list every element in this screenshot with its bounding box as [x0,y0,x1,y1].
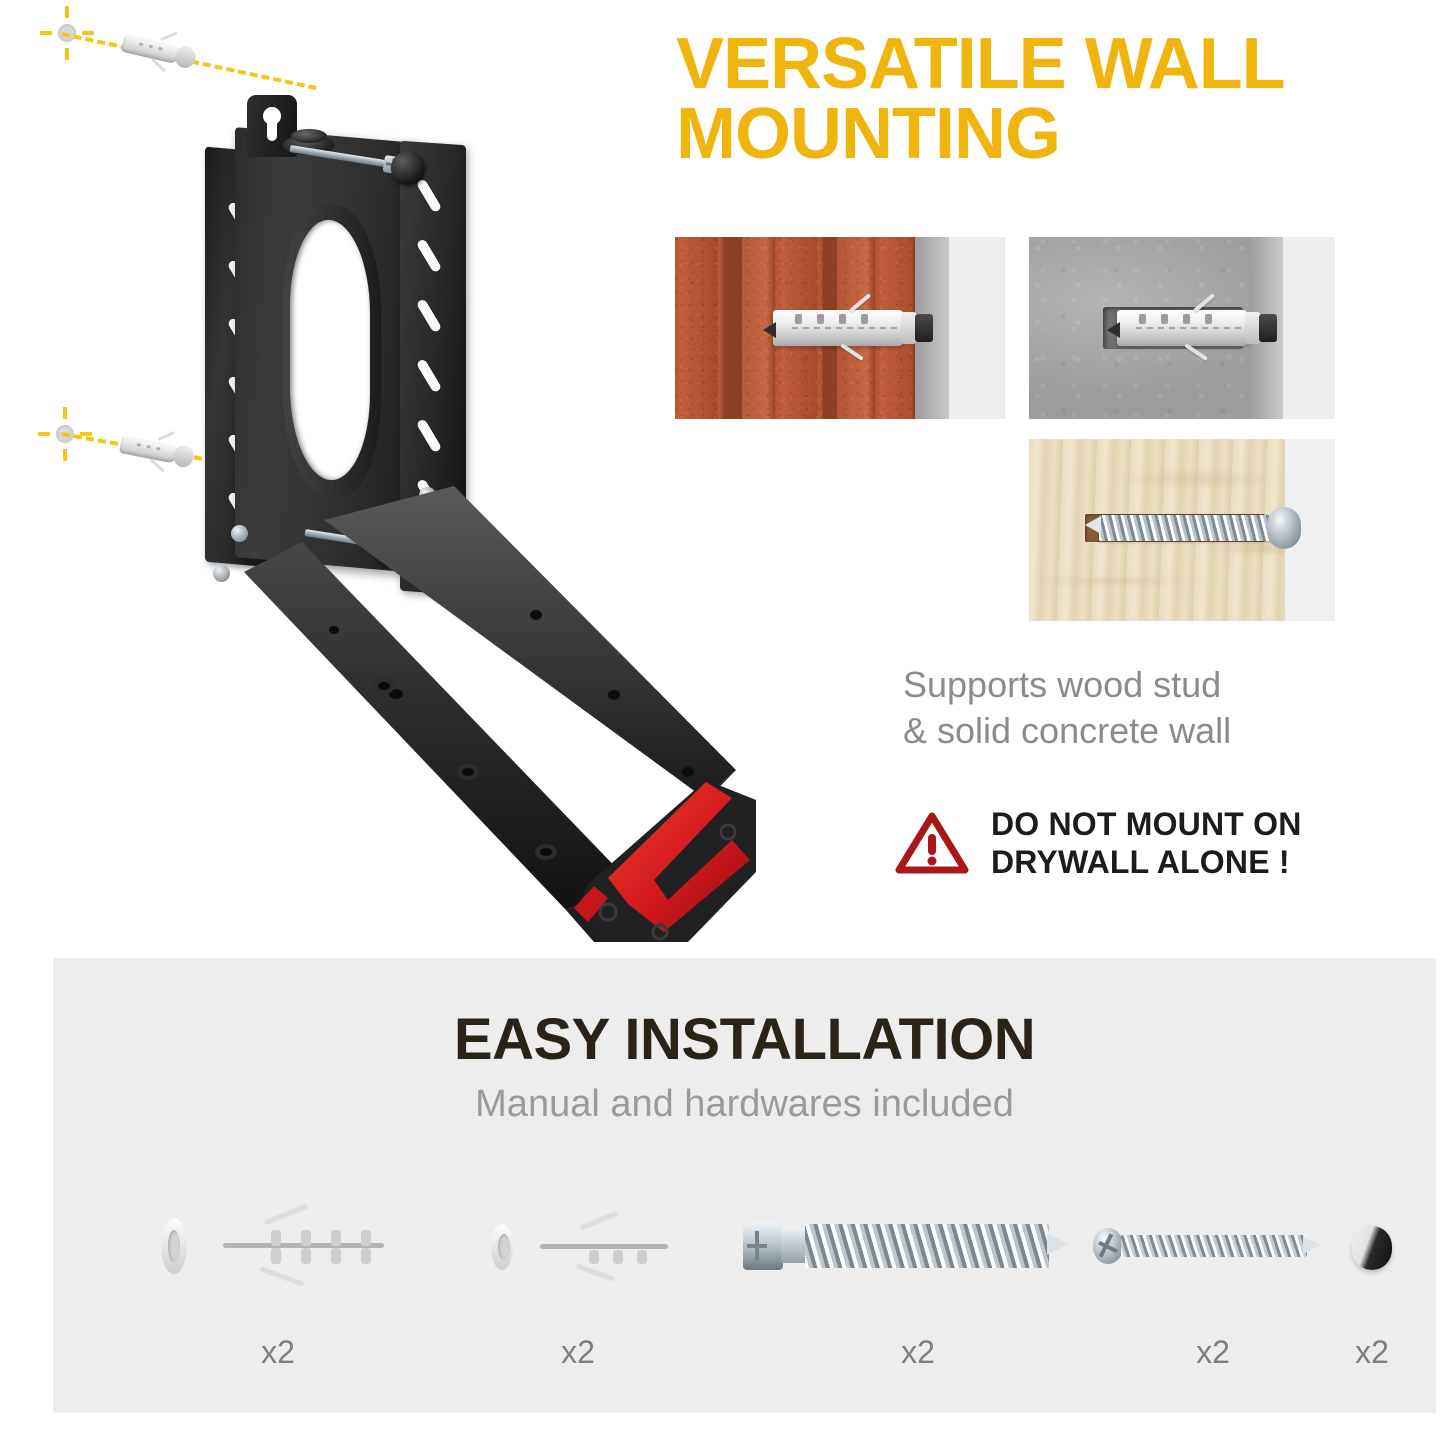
bracket-support-arm [236,480,876,950]
warning-banner: DO NOT MOUNT ON DRYWALL ALONE ! [895,805,1425,882]
brick-wall-sample [675,237,1005,419]
warning-text-line2: DRYWALL ALONE ! [991,844,1290,880]
installation-subtitle: Manual and hardwares included [53,1083,1436,1126]
part-item: x2 [153,1188,403,1371]
part-item: x2 [463,1188,693,1371]
warning-triangle-icon [895,810,969,876]
page-title: VERSATILE WALL MOUNTING [676,30,1436,170]
support-text: Supports wood stud & solid concrete wall [903,662,1423,754]
keyhole-slot-icon [267,119,277,141]
wood-wall-sample [1029,439,1335,621]
concrete-anchor-icon [1117,310,1277,346]
easy-installation-panel: EASY INSTALLATION Manual and hardwares i… [53,958,1436,1413]
top-adjust-knob [391,151,425,185]
part-quantity: x2 [1308,1334,1436,1371]
top-washer-inner [291,129,327,143]
wood-screw-icon [1099,509,1299,547]
part-quantity: x2 [153,1334,403,1371]
installation-title: EASY INSTALLATION [53,1006,1436,1073]
bracket-housing-window [290,217,370,484]
support-text-line1: Supports wood stud [903,662,1423,708]
support-text-line2: & solid concrete wall [903,708,1423,754]
large-plastic-anchor-icon [153,1188,403,1298]
warning-text: DO NOT MOUNT ON DRYWALL ALONE ! [991,805,1302,882]
guide-anchor-upper-icon [120,30,198,72]
part-quantity: x2 [743,1334,1093,1371]
part-item: x2 [743,1188,1093,1371]
brick-anchor-icon [773,310,933,346]
part-item: x2 [1308,1188,1436,1371]
guide-anchor-lower-icon [118,431,196,471]
black-cap-washer-icon [1308,1188,1436,1298]
pivot-screw-d [213,565,230,582]
concrete-wall-sample [1029,237,1335,419]
warning-text-line1: DO NOT MOUNT ON [991,806,1302,842]
hex-lag-bolt-icon [743,1188,1093,1298]
part-quantity: x2 [463,1334,693,1371]
product-infographic: VERSATILE WALL MOUNTING [0,0,1445,1432]
parts-list: x2 x2 [53,1188,1436,1403]
small-plastic-anchor-icon [463,1188,693,1298]
